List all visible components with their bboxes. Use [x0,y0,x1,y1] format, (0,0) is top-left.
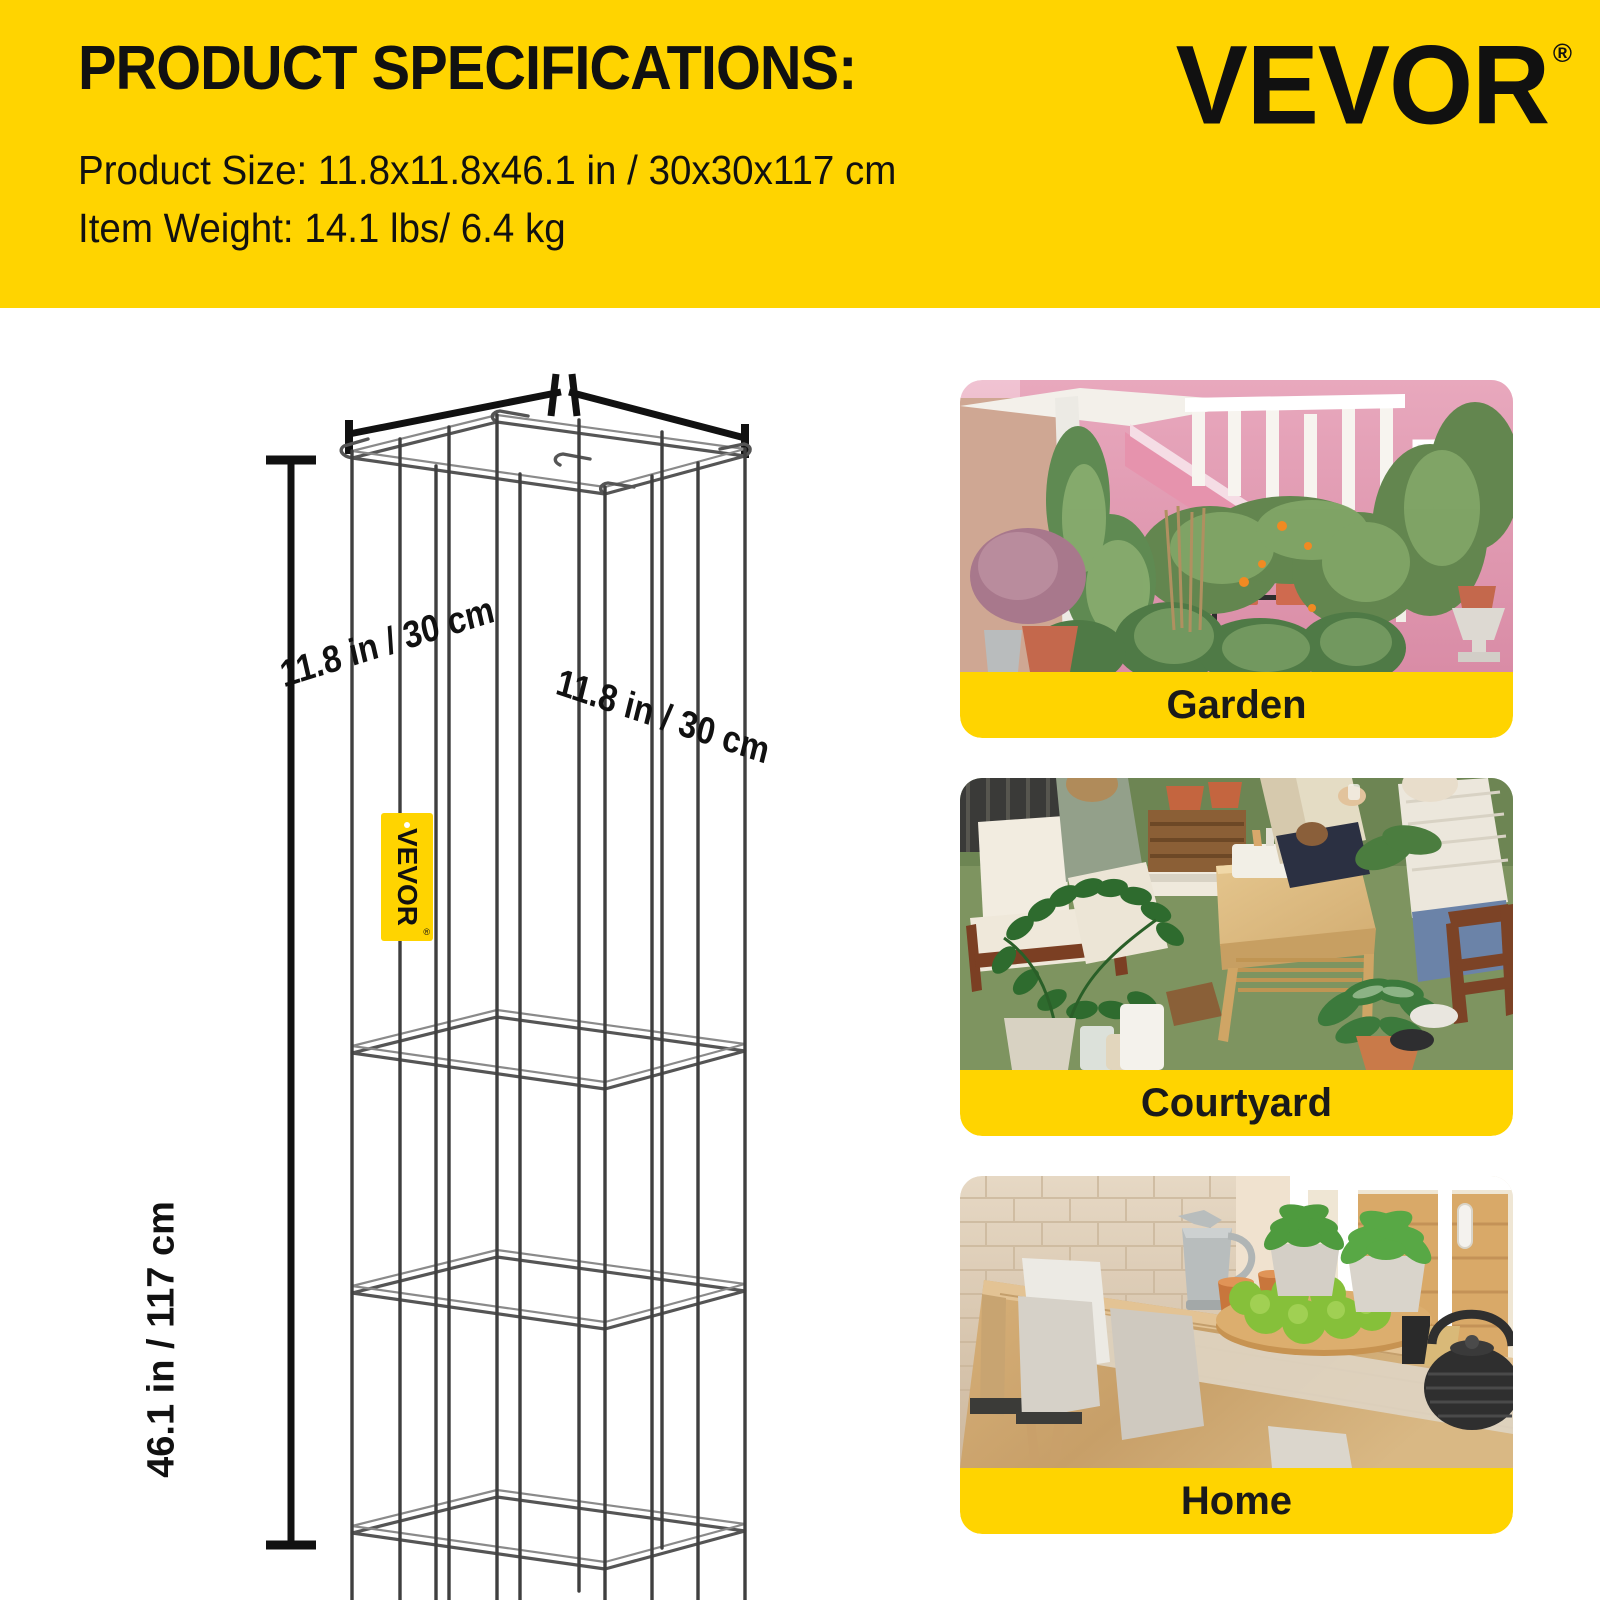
scene-label-courtyard: Courtyard [960,1070,1513,1136]
cage-ring-bottom [352,1490,745,1569]
cage-ring-3 [352,1250,745,1329]
cage-ring-2 [352,1010,745,1089]
scene-label-home: Home [960,1468,1513,1534]
cage-wireframe [341,411,750,1600]
height-dimension-line [266,460,316,1545]
scene-card-home[interactable]: Home [960,1176,1513,1534]
scene-card-garden[interactable]: Garden [960,380,1513,738]
cage-posts [352,415,745,1600]
cage-ring-top [352,415,745,494]
scene-photo-garden [960,380,1513,672]
specifications-banner: PRODUCT SPECIFICATIONS: Product Size: 11… [0,0,1600,308]
brand-logo: VEVOR ® [1190,34,1572,130]
scene-photo-courtyard [960,778,1513,1070]
brand-logo-text: VEVOR [1175,34,1548,138]
scene-photo-home [960,1176,1513,1468]
hang-tag-label: VEVOR [391,828,423,926]
hang-tag: VEVOR ® [381,813,433,941]
product-size-text: Product Size: 11.8x11.8x46.1 in / 30x30x… [78,148,896,192]
registered-trademark-icon: ® [1553,40,1572,66]
height-label: 46.1 in / 117 cm [141,1170,184,1510]
product-dimension-diagram: 11.8 in / 30 cm 11.8 in / 30 cm 46.1 in … [0,308,940,1600]
scene-label-garden: Garden [960,672,1513,738]
item-weight-text: Item Weight: 14.1 lbs/ 6.4 kg [78,206,566,250]
page-title: PRODUCT SPECIFICATIONS: [78,38,856,100]
hang-tag-registered-icon: ® [423,927,430,937]
scene-card-courtyard[interactable]: Courtyard [960,778,1513,1136]
